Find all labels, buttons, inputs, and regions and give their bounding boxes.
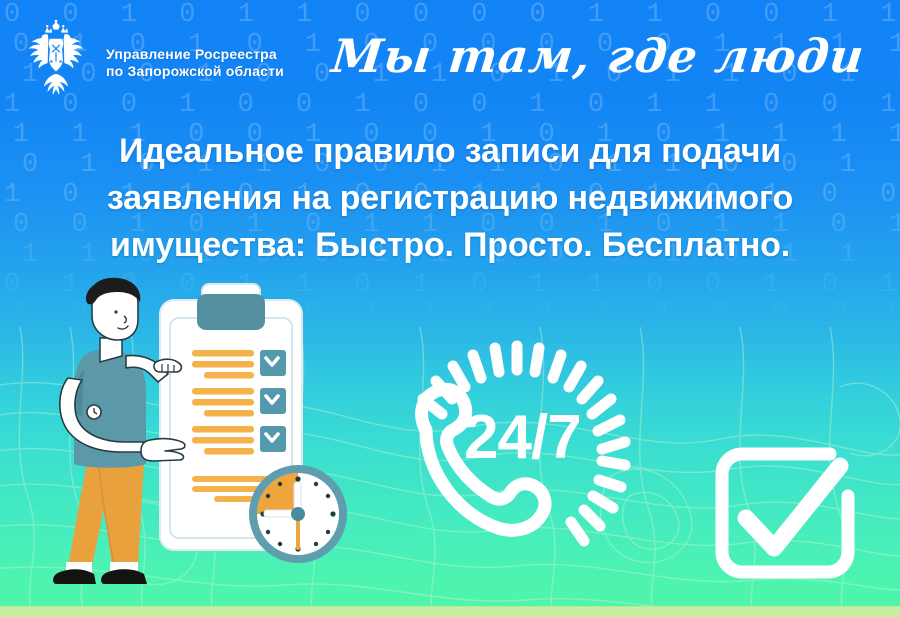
person-with-clipboard-illustration <box>52 276 362 606</box>
phone-handset-24-7-icon: 24/7 <box>392 330 642 578</box>
support-24-7-label: 24/7 <box>464 403 581 472</box>
poster-header: Управление Росреестра по Запорожской обл… <box>0 0 900 108</box>
slogan-text: Мы там, где люди <box>329 30 867 82</box>
organization-name: Управление Росреестра по Запорожской обл… <box>106 46 284 80</box>
poster-root: 0 0 1 0 1 1 0 0 0 0 1 1 0 0 1 1 0 1 0 00… <box>0 0 900 617</box>
headline-line-1: Идеальное правило записи для подачи <box>44 128 856 175</box>
organization-name-line1: Управление Росреестра <box>106 46 277 62</box>
rosreestr-eagle-emblem-icon <box>18 19 94 95</box>
page-title: Идеальное правило записи для подачи заяв… <box>0 128 900 269</box>
bottom-accent-strip <box>0 606 900 617</box>
clock-icon <box>249 465 347 563</box>
checkbox-checked-icon <box>700 432 880 592</box>
support-24-7-icon-group: 24/7 <box>392 330 642 578</box>
headline-line-2: заявления на регистрацию недвижимого <box>44 175 856 222</box>
organization-name-line2: по Запорожской области <box>106 63 284 79</box>
headline-line-3: имущества: Быстро. Просто. Бесплатно. <box>44 222 856 269</box>
